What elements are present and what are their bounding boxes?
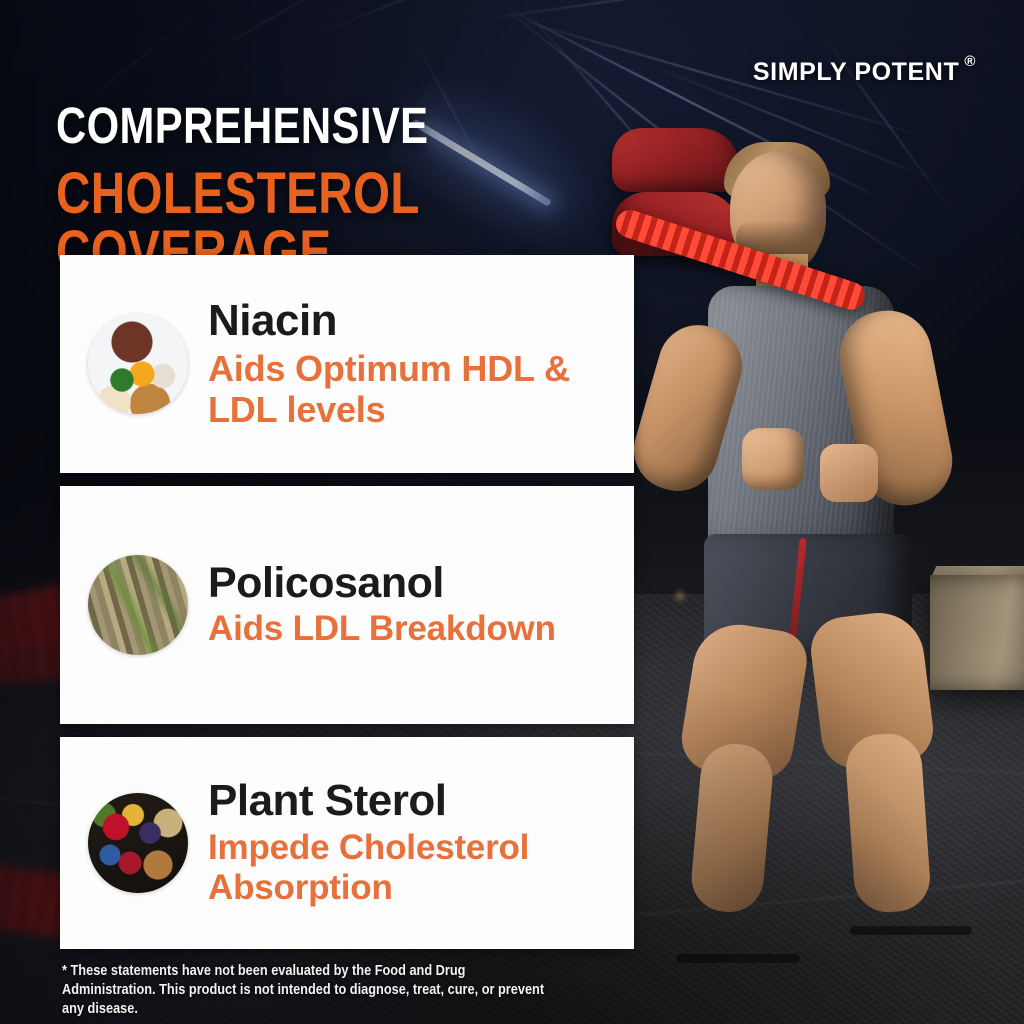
benefit-card-list: Niacin Aids Optimum HDL & LDL levels Pol… — [60, 255, 634, 949]
card-title: Plant Sterol — [208, 778, 616, 824]
headline-line-1: COMPREHENSIVE — [56, 100, 581, 151]
benefit-card-text: Plant Sterol Impede Cholesterol Absorpti… — [208, 778, 616, 908]
card-subtitle: Impede Cholesterol Absorption — [208, 828, 616, 908]
brand-logo: SIMPLY POTENT ® — [753, 58, 976, 87]
card-title: Policosanol — [208, 561, 616, 606]
card-title: Niacin — [208, 298, 616, 344]
product-infographic: SIMPLY POTENT ® COMPREHENSIVE CHOLESTERO… — [0, 0, 1024, 1024]
headline: COMPREHENSIVE CHOLESTEROL COVERAGE — [56, 100, 696, 281]
fda-disclaimer: * These statements have not been evaluat… — [62, 962, 555, 1019]
card-subtitle: Aids LDL Breakdown — [208, 609, 616, 649]
benefit-card-text: Policosanol Aids LDL Breakdown — [208, 561, 616, 650]
benefit-card-plant-sterol: Plant Sterol Impede Cholesterol Absorpti… — [60, 737, 634, 949]
registered-trademark-icon: ® — [964, 54, 976, 69]
benefit-card-niacin: Niacin Aids Optimum HDL & LDL levels — [60, 255, 634, 473]
sugarcane-icon — [88, 555, 188, 655]
benefit-card-text: Niacin Aids Optimum HDL & LDL levels — [208, 298, 616, 430]
niacin-foods-icon — [88, 314, 188, 414]
berries-nuts-icon — [88, 793, 188, 893]
card-subtitle: Aids Optimum HDL & LDL levels — [208, 348, 616, 430]
benefit-card-policosanol: Policosanol Aids LDL Breakdown — [60, 486, 634, 724]
brand-name: SIMPLY POTENT — [753, 58, 959, 87]
